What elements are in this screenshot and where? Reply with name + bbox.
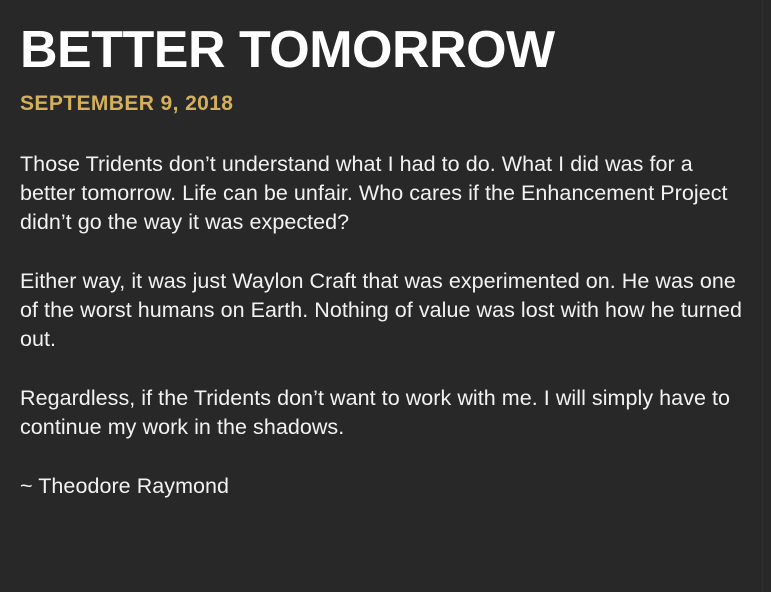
entry-signature: ~ Theodore Raymond: [20, 472, 745, 501]
page-title: BETTER TOMORROW: [20, 0, 747, 78]
entry-paragraph: Either way, it was just Waylon Craft tha…: [20, 267, 745, 354]
journal-entry-page: BETTER TOMORROW SEPTEMBER 9, 2018 Those …: [0, 0, 771, 592]
entry-date: SEPTEMBER 9, 2018: [20, 78, 747, 117]
entry-paragraph: Regardless, if the Tridents don’t want t…: [20, 384, 745, 442]
entry-paragraph: Those Tridents don’t understand what I h…: [20, 150, 745, 237]
journal-entry: BETTER TOMORROW SEPTEMBER 9, 2018 Those …: [20, 0, 747, 501]
right-edge-rule: [762, 0, 763, 592]
entry-body: Those Tridents don’t understand what I h…: [20, 117, 747, 501]
